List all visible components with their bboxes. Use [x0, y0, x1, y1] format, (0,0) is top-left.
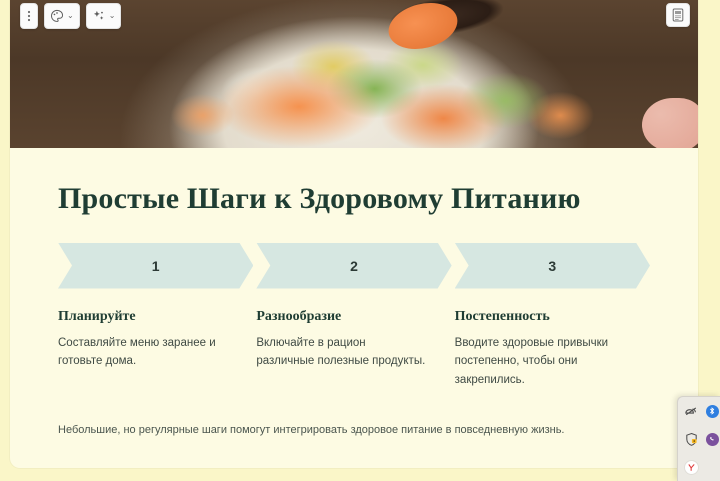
article-card: ⌄ ⌄ Простые Шаги к Зд: [10, 0, 698, 468]
yandex-icon[interactable]: [684, 460, 699, 475]
palette-button[interactable]: ⌄: [44, 3, 80, 29]
chevron-down-icon: ⌄: [67, 12, 74, 20]
effects-button[interactable]: ⌄: [86, 3, 122, 29]
step-number: 3: [548, 258, 556, 274]
document-icon: [672, 8, 684, 22]
step-chevron-2[interactable]: 2: [256, 243, 451, 289]
editor-toolbar: ⌄ ⌄: [20, 3, 121, 29]
page-title: Простые Шаги к Здоровому Питанию: [58, 182, 650, 217]
step-column-2: Разнообразие Включайте в рацион различны…: [256, 309, 451, 391]
extension-popup: [677, 396, 720, 481]
step-body: Включайте в рацион различные полезные пр…: [256, 334, 425, 372]
page-background: ⌄ ⌄ Простые Шаги к Зд: [0, 0, 720, 480]
more-options-button[interactable]: [20, 3, 38, 29]
step-chevron-1[interactable]: 1: [58, 243, 253, 289]
chevron-down-icon: ⌄: [109, 12, 116, 20]
step-body: Вводите здоровые привычки постепенно, чт…: [455, 334, 624, 391]
kebab-menu-icon: [24, 9, 34, 23]
vpn-icon[interactable]: [684, 404, 699, 419]
sparkles-icon: [92, 9, 106, 23]
step-body: Составляйте меню заранее и готовьте дома…: [58, 334, 227, 372]
step-heading: Разнообразие: [256, 309, 425, 325]
article-content: Простые Шаги к Здоровому Питанию 1 2 3 П…: [10, 148, 698, 440]
step-chevron-3[interactable]: 3: [455, 243, 650, 289]
bluetooth-badge-icon[interactable]: [706, 405, 719, 418]
hand-graphic: [642, 98, 698, 148]
steps-description-row: Планируйте Составляйте меню заранее и го…: [58, 309, 650, 391]
step-heading: Постепенность: [455, 309, 624, 325]
step-number: 1: [152, 258, 160, 274]
steps-chevron-bar: 1 2 3: [58, 243, 650, 289]
step-heading: Планируйте: [58, 309, 227, 325]
palette-icon: [50, 9, 64, 23]
step-column-1: Планируйте Составляйте меню заранее и го…: [58, 309, 253, 391]
document-button[interactable]: [666, 3, 690, 27]
step-column-3: Постепенность Вводите здоровые привычки …: [455, 309, 650, 391]
footnote-text: Небольшие, но регулярные шаги помогут ин…: [58, 422, 650, 440]
shield-lock-icon[interactable]: [684, 432, 699, 447]
step-number: 2: [350, 258, 358, 274]
viber-icon[interactable]: [706, 433, 719, 446]
